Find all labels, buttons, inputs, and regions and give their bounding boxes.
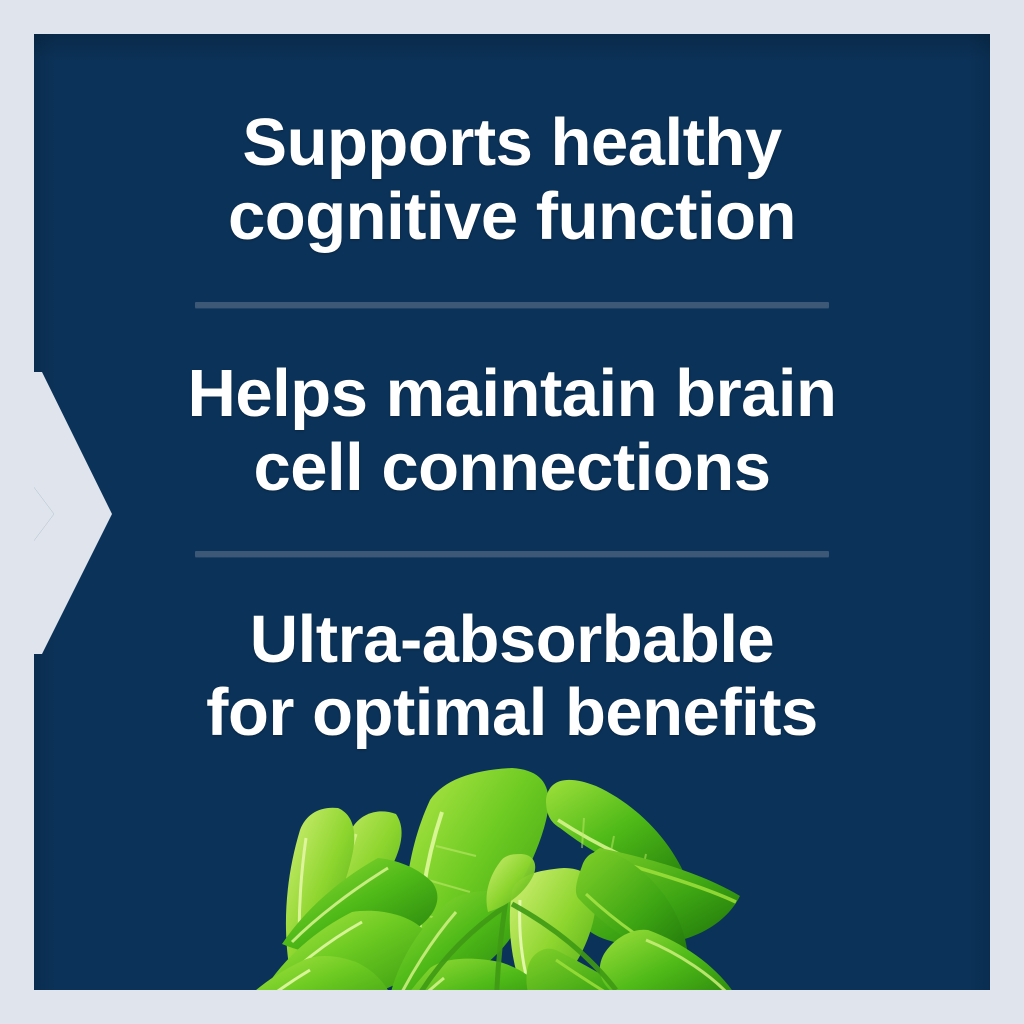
- benefit-3-line-1: Ultra-absorbable: [74, 603, 950, 677]
- product-benefits-panel: Supports healthy cognitive function Help…: [0, 0, 1024, 1024]
- benefit-1-line-1: Supports healthy: [74, 106, 950, 180]
- benefit-2-line-1: Helps maintain brain: [74, 357, 950, 431]
- benefit-2-line-2: cell connections: [74, 431, 950, 505]
- benefit-item-brain-cell-connections: Helps maintain brain cell connections: [34, 357, 990, 504]
- divider-rule-1: [195, 302, 829, 308]
- benefit-item-ultra-absorbable: Ultra-absorbable for optimal benefits: [34, 603, 990, 750]
- benefits-list: Supports healthy cognitive function Help…: [34, 34, 990, 794]
- benefit-1-line-2: cognitive function: [74, 180, 950, 254]
- benefit-3-line-2: for optimal benefits: [74, 676, 950, 750]
- benefit-item-cognitive-function: Supports healthy cognitive function: [34, 106, 990, 253]
- divider-rule-2: [195, 551, 829, 557]
